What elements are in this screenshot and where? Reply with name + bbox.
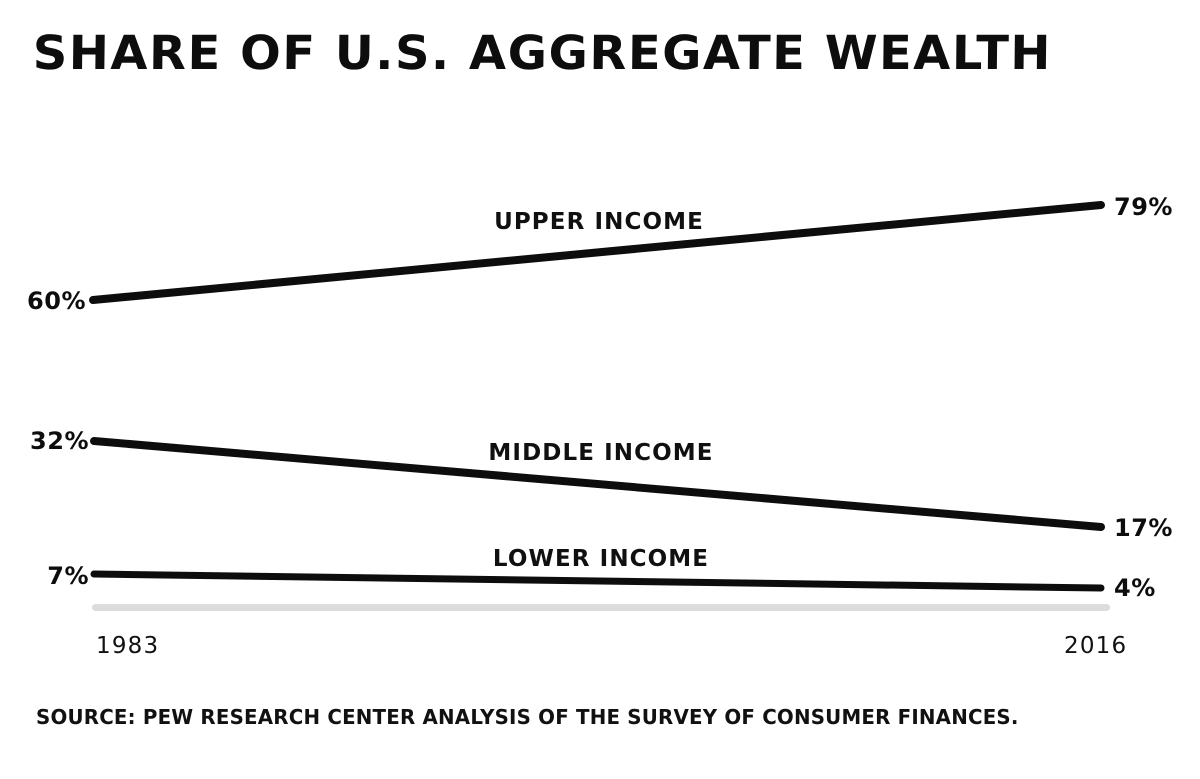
value-label-middle-income-1983: 32% (30, 427, 89, 455)
chart-page: SHARE OF U.S. AGGREGATE WEALTH UPPER INC… (0, 0, 1200, 779)
value-label-upper-income-1983: 60% (27, 287, 86, 315)
value-label-upper-income-2016: 79% (1114, 193, 1173, 221)
lower-income-line (94, 574, 1101, 588)
x-axis-tick-2016: 2016 (1064, 633, 1127, 659)
value-label-middle-income-2016: 17% (1114, 514, 1173, 542)
x-axis-baseline (92, 604, 1110, 611)
series-label-lower-income: LOWER INCOME (493, 546, 709, 572)
series-label-middle-income: MIDDLE INCOME (488, 440, 713, 466)
value-label-lower-income-1983: 7% (47, 562, 89, 590)
source-note: SOURCE: PEW RESEARCH CENTER ANALYSIS OF … (36, 705, 1019, 729)
page-title: SHARE OF U.S. AGGREGATE WEALTH (32, 29, 1052, 78)
value-label-lower-income-2016: 4% (1114, 574, 1156, 602)
series-label-upper-income: UPPER INCOME (494, 209, 704, 235)
x-axis-tick-1983: 1983 (96, 633, 159, 659)
chart-plot-area (0, 0, 1200, 779)
series-line-lower-income (94, 574, 1101, 588)
